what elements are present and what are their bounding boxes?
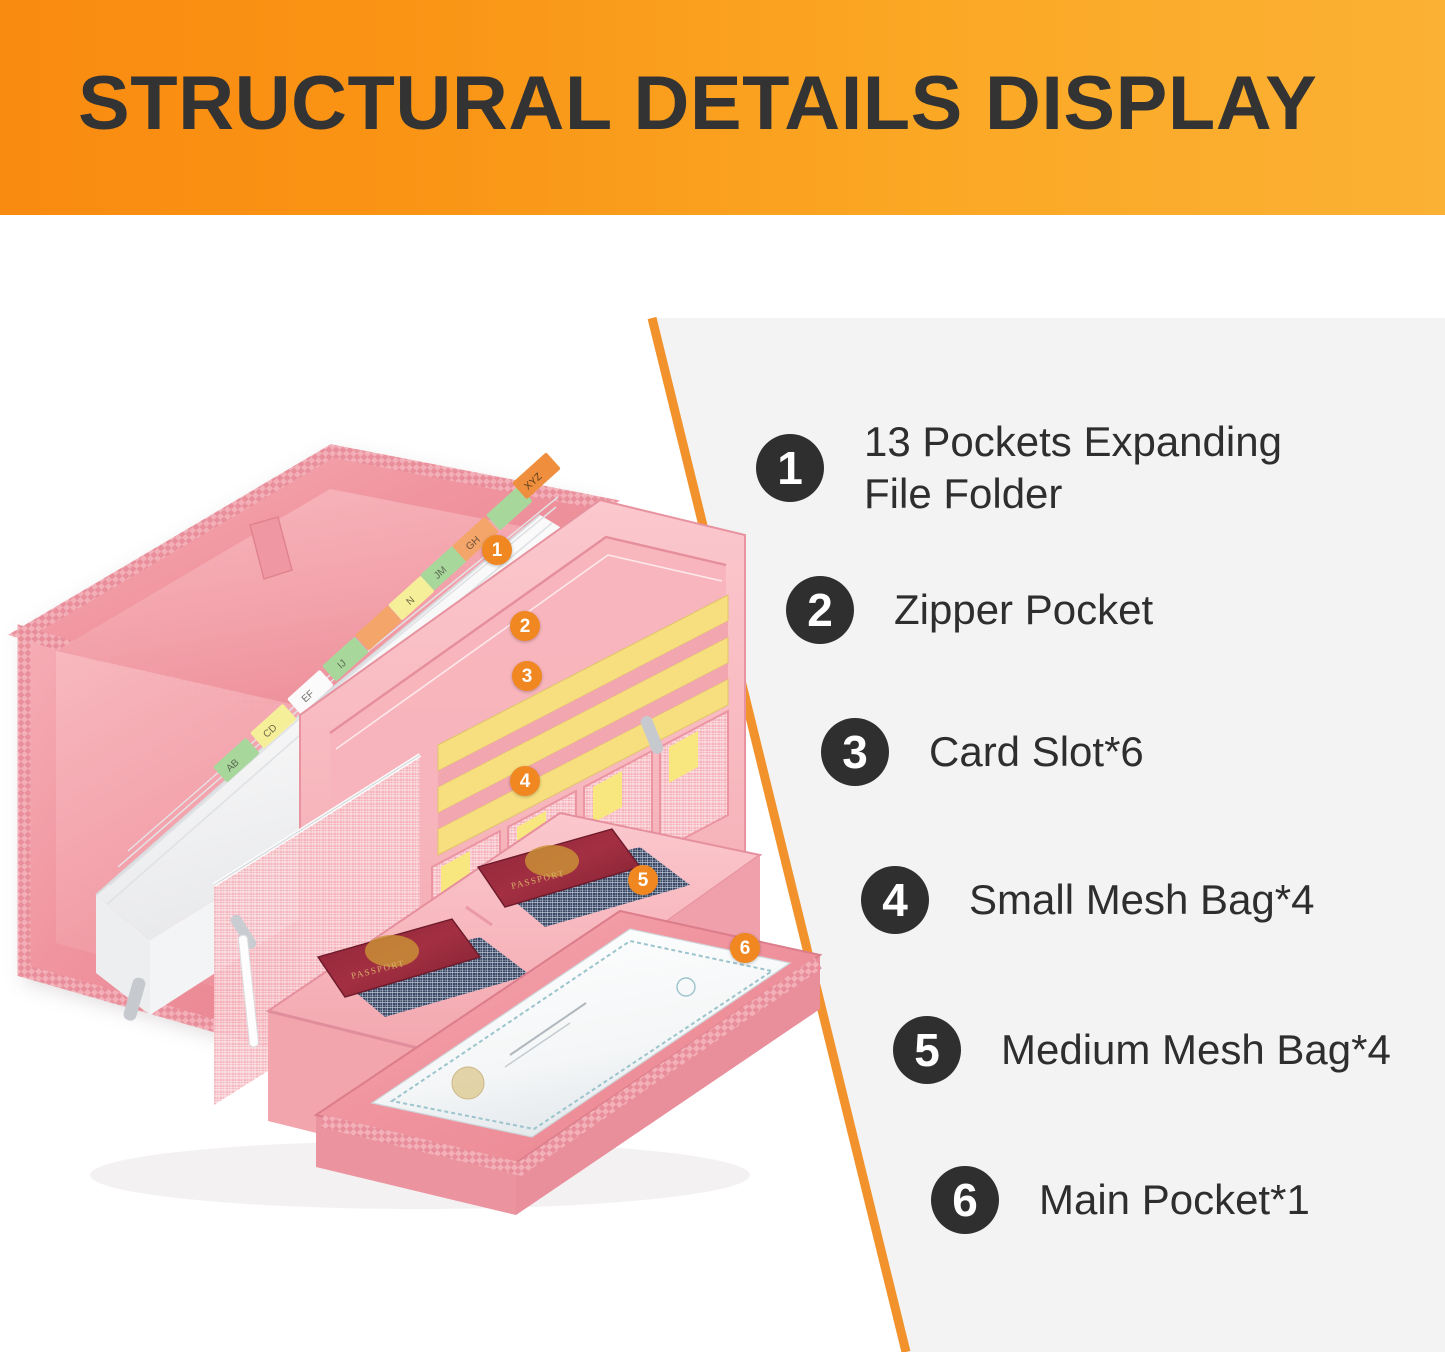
feature-label-2: Zipper Pocket — [894, 584, 1153, 636]
feature-list: 1 13 Pockets Expanding File Folder 2 Zip… — [0, 0, 1445, 1352]
feature-badge-5: 5 — [893, 1016, 961, 1084]
feature-item-2: 2 Zipper Pocket — [786, 576, 1153, 644]
feature-badge-3: 3 — [821, 718, 889, 786]
feature-label-5: Medium Mesh Bag*4 — [1001, 1024, 1391, 1076]
feature-item-3: 3 Card Slot*6 — [821, 718, 1144, 786]
feature-label-4: Small Mesh Bag*4 — [969, 874, 1315, 926]
feature-item-6: 6 Main Pocket*1 — [931, 1166, 1310, 1234]
feature-item-5: 5 Medium Mesh Bag*4 — [893, 1016, 1391, 1084]
feature-item-1: 1 13 Pockets Expanding File Folder — [756, 416, 1282, 520]
feature-item-4: 4 Small Mesh Bag*4 — [861, 866, 1315, 934]
infographic-page: STRUCTURAL DETAILS DISPLAY — [0, 0, 1445, 1352]
feature-label-6: Main Pocket*1 — [1039, 1174, 1310, 1226]
feature-badge-2: 2 — [786, 576, 854, 644]
feature-badge-4: 4 — [861, 866, 929, 934]
feature-badge-6: 6 — [931, 1166, 999, 1234]
feature-label-1: 13 Pockets Expanding File Folder — [864, 416, 1282, 520]
feature-badge-1: 1 — [756, 434, 824, 502]
feature-label-3: Card Slot*6 — [929, 726, 1144, 778]
